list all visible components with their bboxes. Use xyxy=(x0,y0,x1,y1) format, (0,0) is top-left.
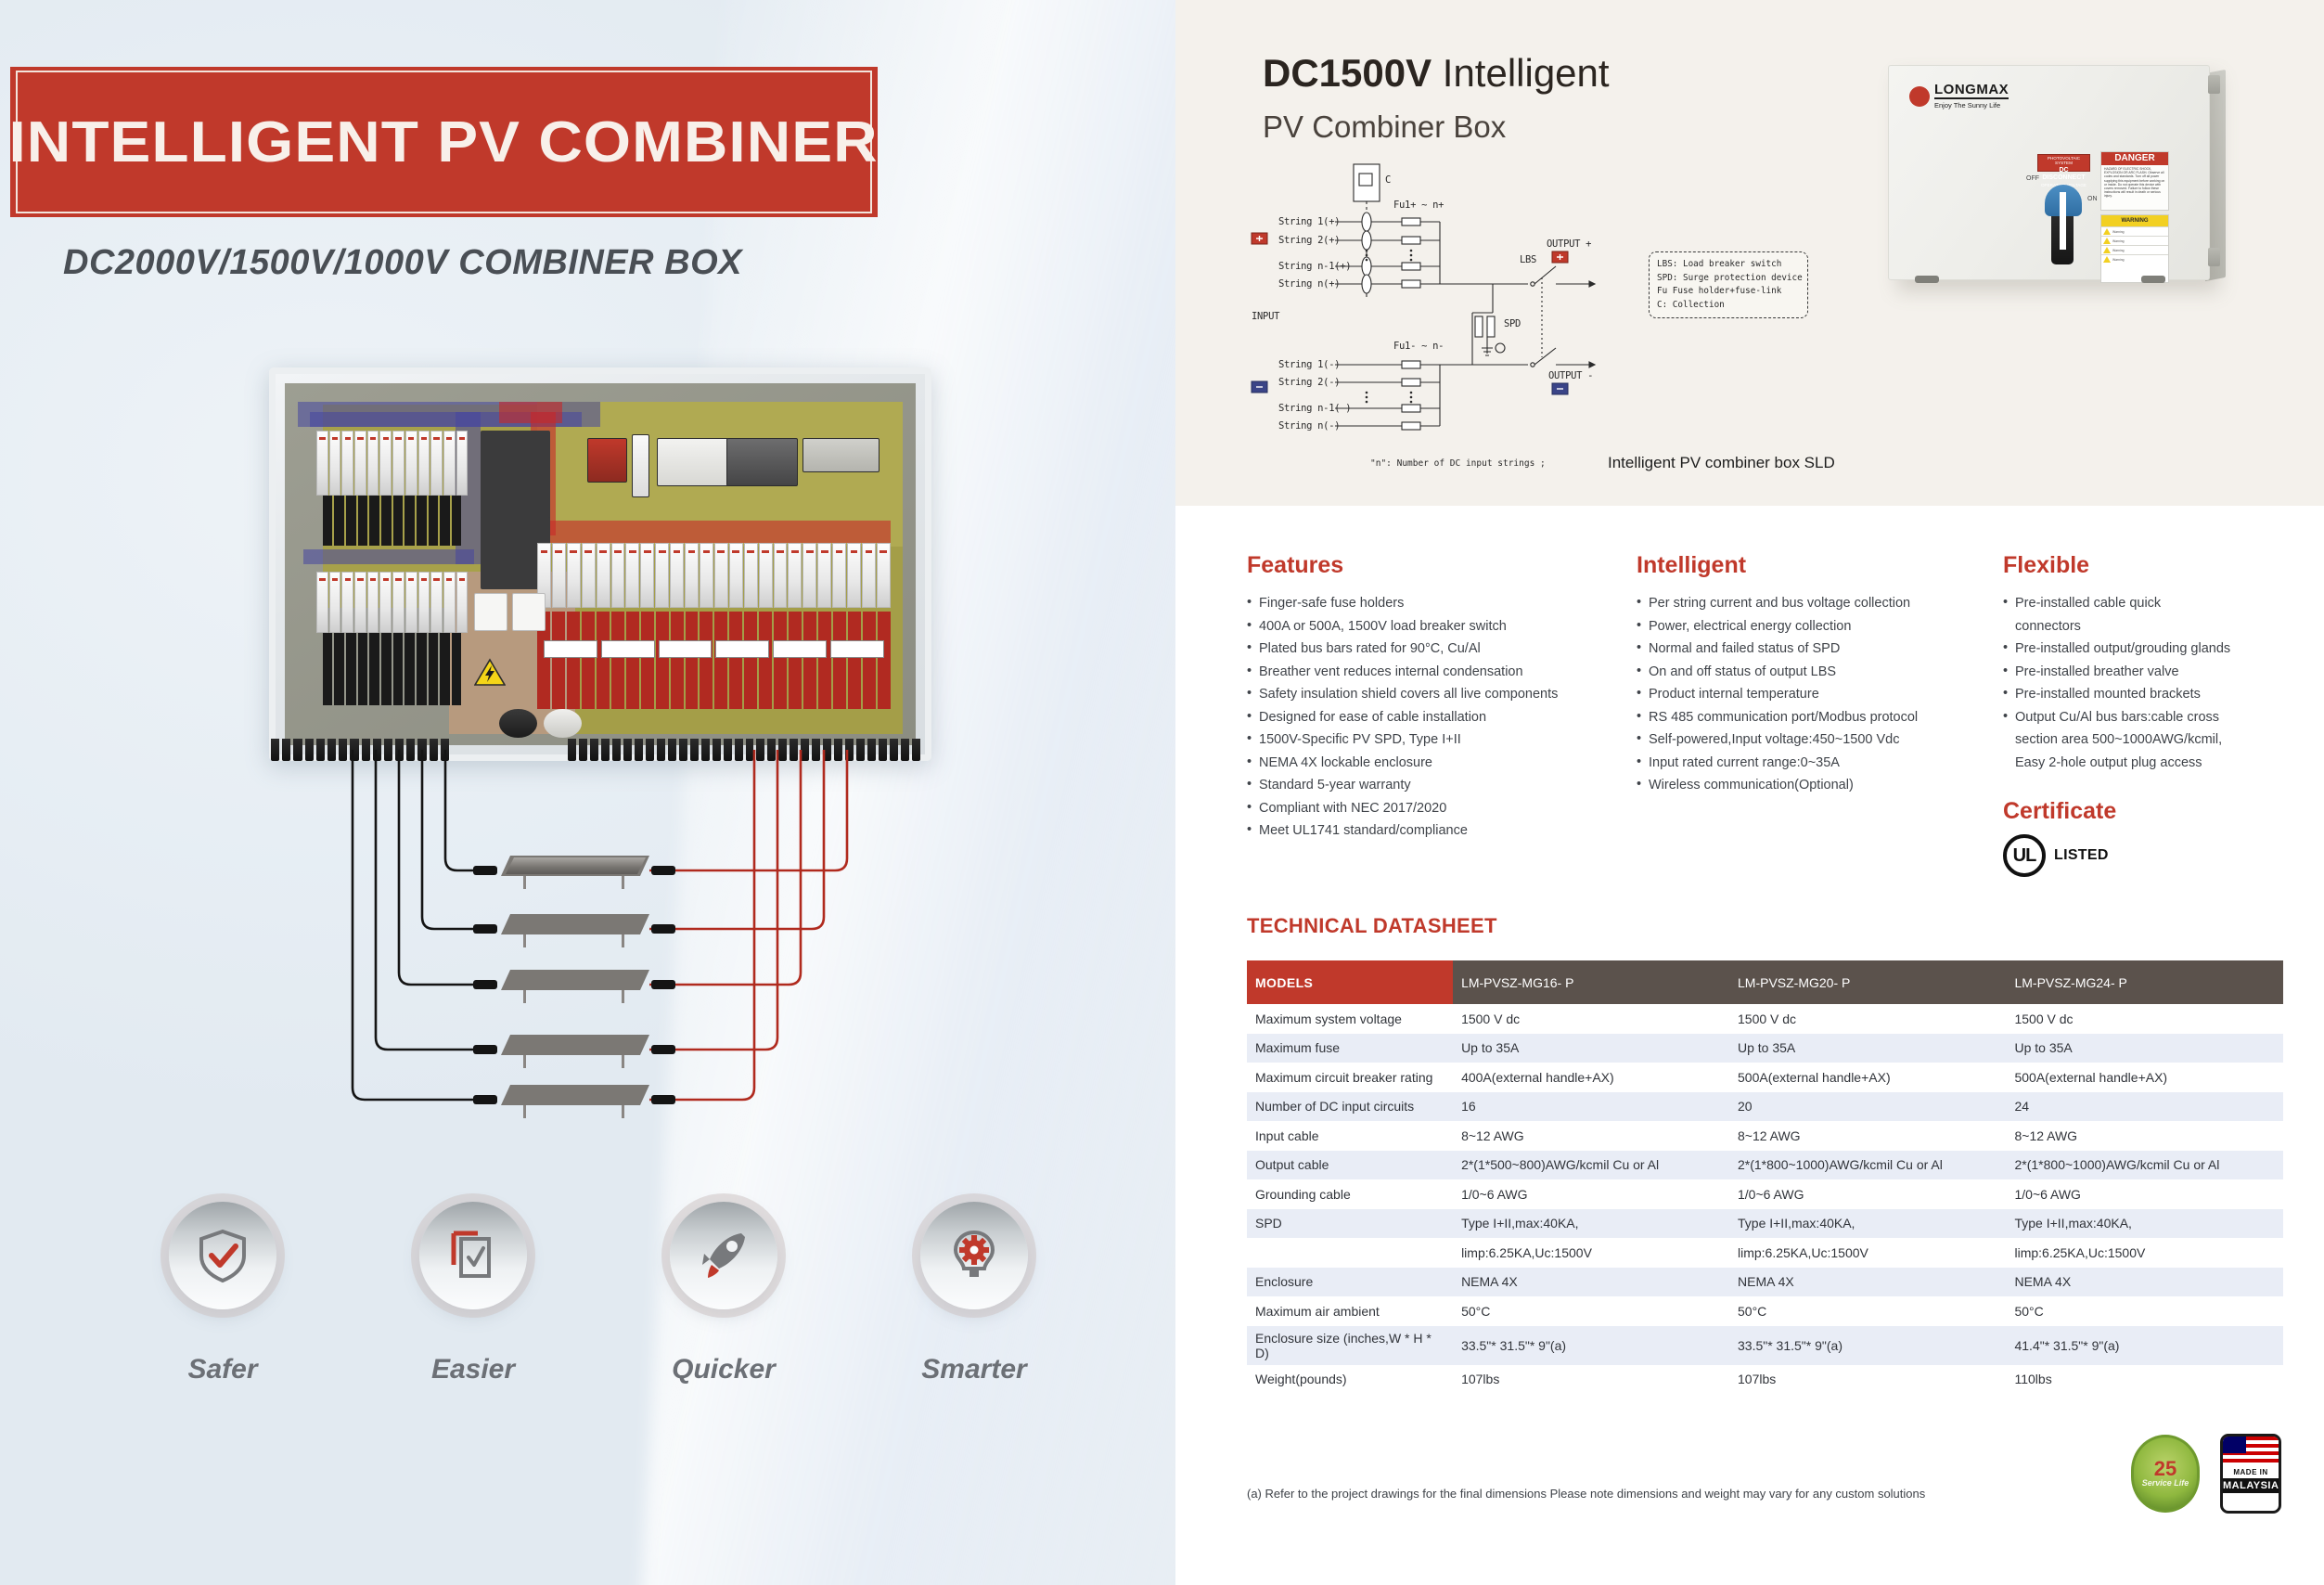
table-row: Maximum air ambient50°C50°C50°C xyxy=(1247,1296,2283,1326)
row-value: 2*(1*800~1000)AWG/kcmil Cu or Al xyxy=(2006,1151,2283,1180)
feature-item: 400A or 500A, 1500V load breaker switch xyxy=(1247,615,1637,638)
flexible-item: Pre-installed output/grouding glands xyxy=(2003,638,2286,661)
sld-legend-item: SPD: Surge protection device xyxy=(1657,272,1800,286)
flexible-item-continuation: section area 500~1000AWG/kcmil, xyxy=(2003,728,2286,752)
intelligent-item: Input rated current range:0~35A xyxy=(1637,752,2003,775)
flexible-item-continuation: Easy 2-hole output plug access xyxy=(2003,752,2286,775)
dc-disconnect-label: PHOTOVOLTAIC SYSTEM DC DISCONNECT OPERAT… xyxy=(2037,154,2090,172)
warning-row: Warning xyxy=(2101,254,2168,264)
brand-tagline: Enjoy The Sunny Life xyxy=(1934,101,2009,110)
closed-combiner-box-photo: LONGMAX Enjoy The Sunny Life PHOTOVOLTAI… xyxy=(1862,46,2270,297)
row-value: 24 xyxy=(2006,1092,2283,1122)
sld-caption: Intelligent PV combiner box SLD xyxy=(1608,454,1835,472)
open-combiner-box-photo xyxy=(269,367,931,761)
flexible-item: Output Cu/Al bus bars:cable cross xyxy=(2003,706,2286,729)
wire-bundle-right xyxy=(537,612,891,709)
table-row: Maximum system voltage1500 V dc1500 V dc… xyxy=(1247,1004,2283,1034)
switch-on-label: ON xyxy=(2087,196,2098,202)
row-value: Type I+II,max:40KA, xyxy=(1453,1209,1729,1239)
row-label: Maximum fuse xyxy=(1247,1034,1453,1063)
made-in-malaysia-badge: MADE IN MALAYSIA xyxy=(2220,1434,2281,1514)
table-row: Output cable2*(1*500~800)AWG/kcmil Cu or… xyxy=(1247,1151,2283,1180)
left-hero-panel: INTELLIGENT PV COMBINER DC2000V/1500V/10… xyxy=(0,0,1175,1585)
sld-string-label: String n(-) xyxy=(1278,420,1340,432)
intelligent-item: On and off status of output LBS xyxy=(1637,661,2003,684)
row-value: 1500 V dc xyxy=(1453,1004,1729,1034)
row-label: Output cable xyxy=(1247,1151,1453,1180)
feature-item: Standard 5-year warranty xyxy=(1247,774,1637,797)
datasheet-table: MODELS LM-PVSZ-MG16- P LM-PVSZ-MG20- P L… xyxy=(1247,960,2283,1394)
ul-certification: UL LISTED xyxy=(2003,834,2286,877)
column-header-model-3: LM-PVSZ-MG24- P xyxy=(2006,960,2283,1004)
row-value: limp:6.25KA,Uc:1500V xyxy=(2006,1238,2283,1268)
table-row: Weight(pounds)107lbs107lbs110lbs xyxy=(1247,1365,2283,1395)
features-heading: Features xyxy=(1247,552,1637,579)
sld-legend-item: LBS: Load breaker switch xyxy=(1657,258,1800,272)
sld-string-label: String 2(+) xyxy=(1278,235,1340,246)
high-voltage-warning-icon xyxy=(474,658,506,686)
feature-item: NEMA 4X lockable enclosure xyxy=(1247,752,1637,775)
right-spec-panel: DC1500V Intelligent PV Combiner Box xyxy=(1175,0,2324,1585)
feature-item: Designed for ease of cable installation xyxy=(1247,706,1637,729)
flexible-heading: Flexible xyxy=(2003,552,2286,579)
sld-legend-item: Fu Fuse holder+fuse-link xyxy=(1657,285,1800,299)
sld-string-label: String 1(-) xyxy=(1278,359,1340,370)
fuse-module xyxy=(632,434,649,497)
service-life-years: 25 xyxy=(2154,1460,2176,1478)
column-header-models: MODELS xyxy=(1247,960,1453,1004)
warning-triangle-icon xyxy=(2103,238,2111,244)
cable-gland-left xyxy=(499,709,537,738)
sld-input-label: INPUT xyxy=(1252,311,1279,322)
spd-module xyxy=(587,438,627,483)
intelligent-heading: Intelligent xyxy=(1637,552,2003,579)
table-row: limp:6.25KA,Uc:1500Vlimp:6.25KA,Uc:1500V… xyxy=(1247,1238,2283,1268)
warning-title: WARNING xyxy=(2101,215,2168,226)
service-life-text: Service Life xyxy=(2142,1478,2189,1488)
power-supply-module xyxy=(726,438,798,487)
row-label: Maximum circuit breaker rating xyxy=(1247,1063,1453,1092)
benefit-smarter: Smarter xyxy=(849,1202,1099,1443)
flexible-item-continuation: connectors xyxy=(2003,615,2286,638)
sld-fu-minus-label: Fu1- ~ n- xyxy=(1393,341,1444,352)
sld-legend-box: LBS: Load breaker switch SPD: Surge prot… xyxy=(1649,251,1808,318)
insulation-shield-red-bus xyxy=(531,521,891,542)
row-label: Enclosure xyxy=(1247,1268,1453,1297)
feature-item: Meet UL1741 standard/compliance xyxy=(1247,819,1637,843)
table-row: Number of DC input circuits162024 xyxy=(1247,1092,2283,1122)
enclosure-interior xyxy=(285,383,916,745)
sld-string-label: String 2(-) xyxy=(1278,377,1340,388)
intelligent-item: Product internal temperature xyxy=(1637,683,2003,706)
row-value: 2*(1*500~800)AWG/kcmil Cu or Al xyxy=(1453,1151,1729,1180)
certificate-heading: Certificate xyxy=(2003,798,2286,825)
row-value: 1/0~6 AWG xyxy=(2006,1179,2283,1209)
row-value: 1500 V dc xyxy=(1729,1004,2006,1034)
benefit-circle xyxy=(670,1202,777,1309)
row-value: 50°C xyxy=(2006,1296,2283,1326)
flexible-column: Flexible Pre-installed cable quick conne… xyxy=(2003,552,2286,877)
dc-disconnect-line2: DC DISCONNECT xyxy=(2038,166,2089,182)
warning-triangle-icon xyxy=(2103,228,2111,235)
row-value: NEMA 4X xyxy=(1453,1268,1729,1297)
benefit-safer: Safer xyxy=(97,1202,348,1443)
row-value: 500A(external handle+AX) xyxy=(2006,1063,2283,1092)
hinge-top xyxy=(2208,75,2220,94)
mounting-foot-left xyxy=(1915,276,1939,283)
single-line-diagram: C Fu1+ ~ n+ Fu1- ~ n- INPUT LBS SPD OUTP… xyxy=(1250,162,1806,492)
benefit-circle xyxy=(920,1202,1028,1309)
row-value: 110lbs xyxy=(2006,1365,2283,1395)
sld-string-label: String n-1(-) xyxy=(1278,403,1351,414)
country-text: MALAYSIA xyxy=(2223,1478,2279,1493)
clipboard-check-icon xyxy=(446,1228,500,1283)
page-subtitle: DC2000V/1500V/1000V COMBINER BOX xyxy=(63,243,742,283)
row-label: Maximum system voltage xyxy=(1247,1004,1453,1034)
benefit-circle xyxy=(169,1202,276,1309)
sld-legend-item: C: Collection xyxy=(1657,299,1800,313)
malaysia-flag-icon xyxy=(2223,1437,2279,1466)
intelligent-list: Per string current and bus voltage colle… xyxy=(1637,592,2003,797)
hero-title-box: INTELLIGENT PV COMBINER xyxy=(10,67,878,217)
warning-row-text: Warning xyxy=(2112,258,2125,262)
flexible-item: Pre-installed cable quick xyxy=(2003,592,2286,615)
ul-listed-text: LISTED xyxy=(2054,847,2109,864)
features-column: Features Finger-safe fuse holders 400A o… xyxy=(1247,552,1637,877)
benefit-label: Quicker xyxy=(672,1354,776,1385)
intelligent-item: Per string current and bus voltage colle… xyxy=(1637,592,2003,615)
product-subtitle: PV Combiner Box xyxy=(1263,110,1506,145)
sld-string-label: String n(+) xyxy=(1278,278,1340,290)
mounting-foot-right xyxy=(2141,276,2165,283)
row-label: SPD xyxy=(1247,1209,1453,1239)
feature-item: Compliant with NEC 2017/2020 xyxy=(1247,797,1637,820)
flexible-item: Pre-installed mounted brackets xyxy=(2003,683,2286,706)
benefit-circle xyxy=(419,1202,527,1309)
warning-row-text: Warning xyxy=(2112,249,2125,252)
ul-logo-icon: UL xyxy=(2003,834,2046,877)
danger-label: DANGER HAZARD OF ELECTRIC SHOCK, EXPLOSI… xyxy=(2100,151,2169,211)
monitor-module xyxy=(657,438,728,487)
longmax-logo: LONGMAX Enjoy The Sunny Life xyxy=(1909,83,2009,110)
table-row: SPDType I+II,max:40KA,Type I+II,max:40KA… xyxy=(1247,1209,2283,1239)
dc-disconnect-line1: PHOTOVOLTAIC SYSTEM xyxy=(2038,155,2089,166)
feature-columns: Features Finger-safe fuse holders 400A o… xyxy=(1247,552,2286,877)
row-value: 8~12 AWG xyxy=(1729,1121,2006,1151)
row-label: Weight(pounds) xyxy=(1247,1365,1453,1395)
product-title-bold: DC1500V xyxy=(1263,51,1432,95)
table-row: Maximum circuit breaker rating400A(exter… xyxy=(1247,1063,2283,1092)
insulation-shield-blue-bottom xyxy=(303,549,474,564)
row-value: 50°C xyxy=(1453,1296,1729,1326)
pv-string-wiring-diagram xyxy=(278,742,928,1151)
sld-spd-label: SPD xyxy=(1504,318,1521,329)
row-value: 1500 V dc xyxy=(2006,1004,2283,1034)
warning-triangle-icon xyxy=(2103,256,2111,263)
footer-badges: 25 Service Life MADE IN MALAYSIA xyxy=(2131,1434,2281,1514)
intelligent-item: RS 485 communication port/Modbus protoco… xyxy=(1637,706,2003,729)
row-value: Up to 35A xyxy=(1453,1034,1729,1063)
warning-row-text: Warning xyxy=(2112,239,2125,243)
table-row: Input cable8~12 AWG8~12 AWG8~12 AWG xyxy=(1247,1121,2283,1151)
table-row: Maximum fuseUp to 35AUp to 35AUp to 35A xyxy=(1247,1034,2283,1063)
table-row: Enclosure size (inches,W * H * D)33.5"* … xyxy=(1247,1326,2283,1365)
brand-name: LONGMAX xyxy=(1934,83,2009,99)
row-value: 16 xyxy=(1453,1092,1729,1122)
row-value: 50°C xyxy=(1729,1296,2006,1326)
rocket-icon xyxy=(697,1228,751,1283)
fuse-holder-bank-upper-left xyxy=(316,431,468,496)
benefit-label: Smarter xyxy=(921,1354,1026,1385)
rs485-terminal xyxy=(802,438,880,472)
benefit-easier: Easier xyxy=(348,1202,598,1443)
terminal-block-row xyxy=(544,640,884,659)
warning-label: WARNING Warning Warning Warning Warning xyxy=(2100,214,2169,283)
row-value: 400A(external handle+AX) xyxy=(1453,1063,1729,1092)
bus-bar-lug-left xyxy=(474,593,507,631)
fuse-holder-bank-right xyxy=(537,543,891,608)
row-value: Type I+II,max:40KA, xyxy=(2006,1209,2283,1239)
table-row: EnclosureNEMA 4XNEMA 4XNEMA 4X xyxy=(1247,1268,2283,1297)
sld-output-minus-label: OUTPUT - xyxy=(1548,370,1593,381)
sld-output-plus-label: OUTPUT + xyxy=(1547,238,1591,250)
row-label: Maximum air ambient xyxy=(1247,1296,1453,1326)
row-value: 20 xyxy=(1729,1092,2006,1122)
row-value: Up to 35A xyxy=(1729,1034,2006,1063)
row-value: 107lbs xyxy=(1453,1365,1729,1395)
table-row: Grounding cable1/0~6 AWG1/0~6 AWG1/0~6 A… xyxy=(1247,1179,2283,1209)
flexible-list: Pre-installed cable quick connectors Pre… xyxy=(2003,592,2286,774)
sld-string-label: String n-1(+) xyxy=(1278,261,1351,272)
row-value: 33.5"* 31.5"* 9"(a) xyxy=(1729,1326,2006,1365)
table-header-row: MODELS LM-PVSZ-MG16- P LM-PVSZ-MG20- P L… xyxy=(1247,960,2283,1004)
features-list: Finger-safe fuse holders 400A or 500A, 1… xyxy=(1247,592,1637,843)
enclosure-front-door: LONGMAX Enjoy The Sunny Life PHOTOVOLTAI… xyxy=(1888,65,2210,280)
row-value: Up to 35A xyxy=(2006,1034,2283,1063)
danger-body: HAZARD OF ELECTRIC SHOCK, EXPLOSION OR A… xyxy=(2101,165,2168,200)
sld-note: "n": Number of DC input strings ; xyxy=(1370,458,1546,469)
lightbulb-gear-icon xyxy=(947,1228,1001,1283)
warning-row: Warning xyxy=(2101,236,2168,245)
row-label: Number of DC input circuits xyxy=(1247,1092,1453,1122)
rotary-switch-knob[interactable] xyxy=(2045,185,2082,216)
shield-check-icon xyxy=(196,1228,250,1283)
feature-item: Safety insulation shield covers all live… xyxy=(1247,683,1637,706)
product-title-light: Intelligent xyxy=(1432,51,1609,95)
row-value: 8~12 AWG xyxy=(2006,1121,2283,1151)
warning-row-text: Warning xyxy=(2112,230,2125,234)
sld-fu-plus-label: Fu1+ ~ n+ xyxy=(1393,200,1444,211)
sld-string-label: String 1(+) xyxy=(1278,216,1340,227)
row-label: Grounding cable xyxy=(1247,1179,1453,1209)
warning-row: Warning xyxy=(2101,226,2168,236)
warning-row: Warning xyxy=(2101,245,2168,254)
intelligent-item: Normal and failed status of SPD xyxy=(1637,638,2003,661)
page-title: INTELLIGENT PV COMBINER xyxy=(9,110,879,175)
danger-title: DANGER xyxy=(2101,152,2168,165)
feature-item: 1500V-Specific PV SPD, Type I+II xyxy=(1247,728,1637,752)
flexible-item: Pre-installed breather valve xyxy=(2003,661,2286,684)
intelligent-item: Wireless communication(Optional) xyxy=(1637,774,2003,797)
row-value: 41.4"* 31.5"* 9"(a) xyxy=(2006,1326,2283,1365)
bus-bar-lug-right xyxy=(512,593,546,631)
row-value: limp:6.25KA,Uc:1500V xyxy=(1453,1238,1729,1268)
hero-title-inner-border: INTELLIGENT PV COMBINER xyxy=(16,71,872,213)
row-value: 2*(1*800~1000)AWG/kcmil Cu or Al xyxy=(1729,1151,2006,1180)
product-title: DC1500V Intelligent xyxy=(1263,51,1610,96)
intelligent-item: Self-powered,Input voltage:450~1500 Vdc xyxy=(1637,728,2003,752)
benefit-quicker: Quicker xyxy=(598,1202,849,1443)
hinge-bottom xyxy=(2208,248,2220,266)
row-label: Input cable xyxy=(1247,1121,1453,1151)
sld-lbs-label: LBS xyxy=(1520,254,1536,265)
wire-bundle-lower-left xyxy=(323,633,462,705)
sld-collection-label: C xyxy=(1385,174,1391,186)
intelligent-column: Intelligent Per string current and bus v… xyxy=(1637,552,2003,877)
row-value: NEMA 4X xyxy=(1729,1268,2006,1297)
row-value: 8~12 AWG xyxy=(1453,1121,1729,1151)
datasheet-footnote: (a) Refer to the project drawings for th… xyxy=(1247,1487,1925,1501)
row-value: 500A(external handle+AX) xyxy=(1729,1063,2006,1092)
row-value: 1/0~6 AWG xyxy=(1453,1179,1729,1209)
row-value: NEMA 4X xyxy=(2006,1268,2283,1297)
row-value: limp:6.25KA,Uc:1500V xyxy=(1729,1238,2006,1268)
feature-item: Breather vent reduces internal condensat… xyxy=(1247,661,1637,684)
longmax-mark-icon xyxy=(1909,86,1930,107)
load-breaker-switch-housing xyxy=(481,431,550,528)
benefits-row: Safer Easier Quicker xyxy=(97,1202,1099,1443)
service-life-badge: 25 Service Life xyxy=(2131,1435,2200,1513)
made-in-text: MADE IN xyxy=(2233,1468,2267,1476)
column-header-model-1: LM-PVSZ-MG16- P xyxy=(1453,960,1729,1004)
column-header-model-2: LM-PVSZ-MG20- P xyxy=(1729,960,2006,1004)
benefit-label: Safer xyxy=(187,1354,257,1385)
row-value: 107lbs xyxy=(1729,1365,2006,1395)
row-value: Type I+II,max:40KA, xyxy=(1729,1209,2006,1239)
switch-off-label: OFF xyxy=(2026,175,2039,182)
feature-item: Finger-safe fuse holders xyxy=(1247,592,1637,615)
datasheet-heading: TECHNICAL DATASHEET xyxy=(1247,914,1497,938)
row-value: 33.5"* 31.5"* 9"(a) xyxy=(1453,1326,1729,1365)
wire-bundle-upper-left xyxy=(323,496,462,547)
row-value: 1/0~6 AWG xyxy=(1729,1179,2006,1209)
cable-gland-right xyxy=(544,709,582,738)
row-label: Enclosure size (inches,W * H * D) xyxy=(1247,1326,1453,1365)
row-label xyxy=(1247,1238,1453,1268)
feature-item: Plated bus bars rated for 90°C, Cu/Al xyxy=(1247,638,1637,661)
warning-triangle-icon xyxy=(2103,247,2111,253)
intelligent-item: Power, electrical energy collection xyxy=(1637,615,2003,638)
fuse-holder-bank-lower-left xyxy=(316,572,468,633)
benefit-label: Easier xyxy=(431,1354,515,1385)
